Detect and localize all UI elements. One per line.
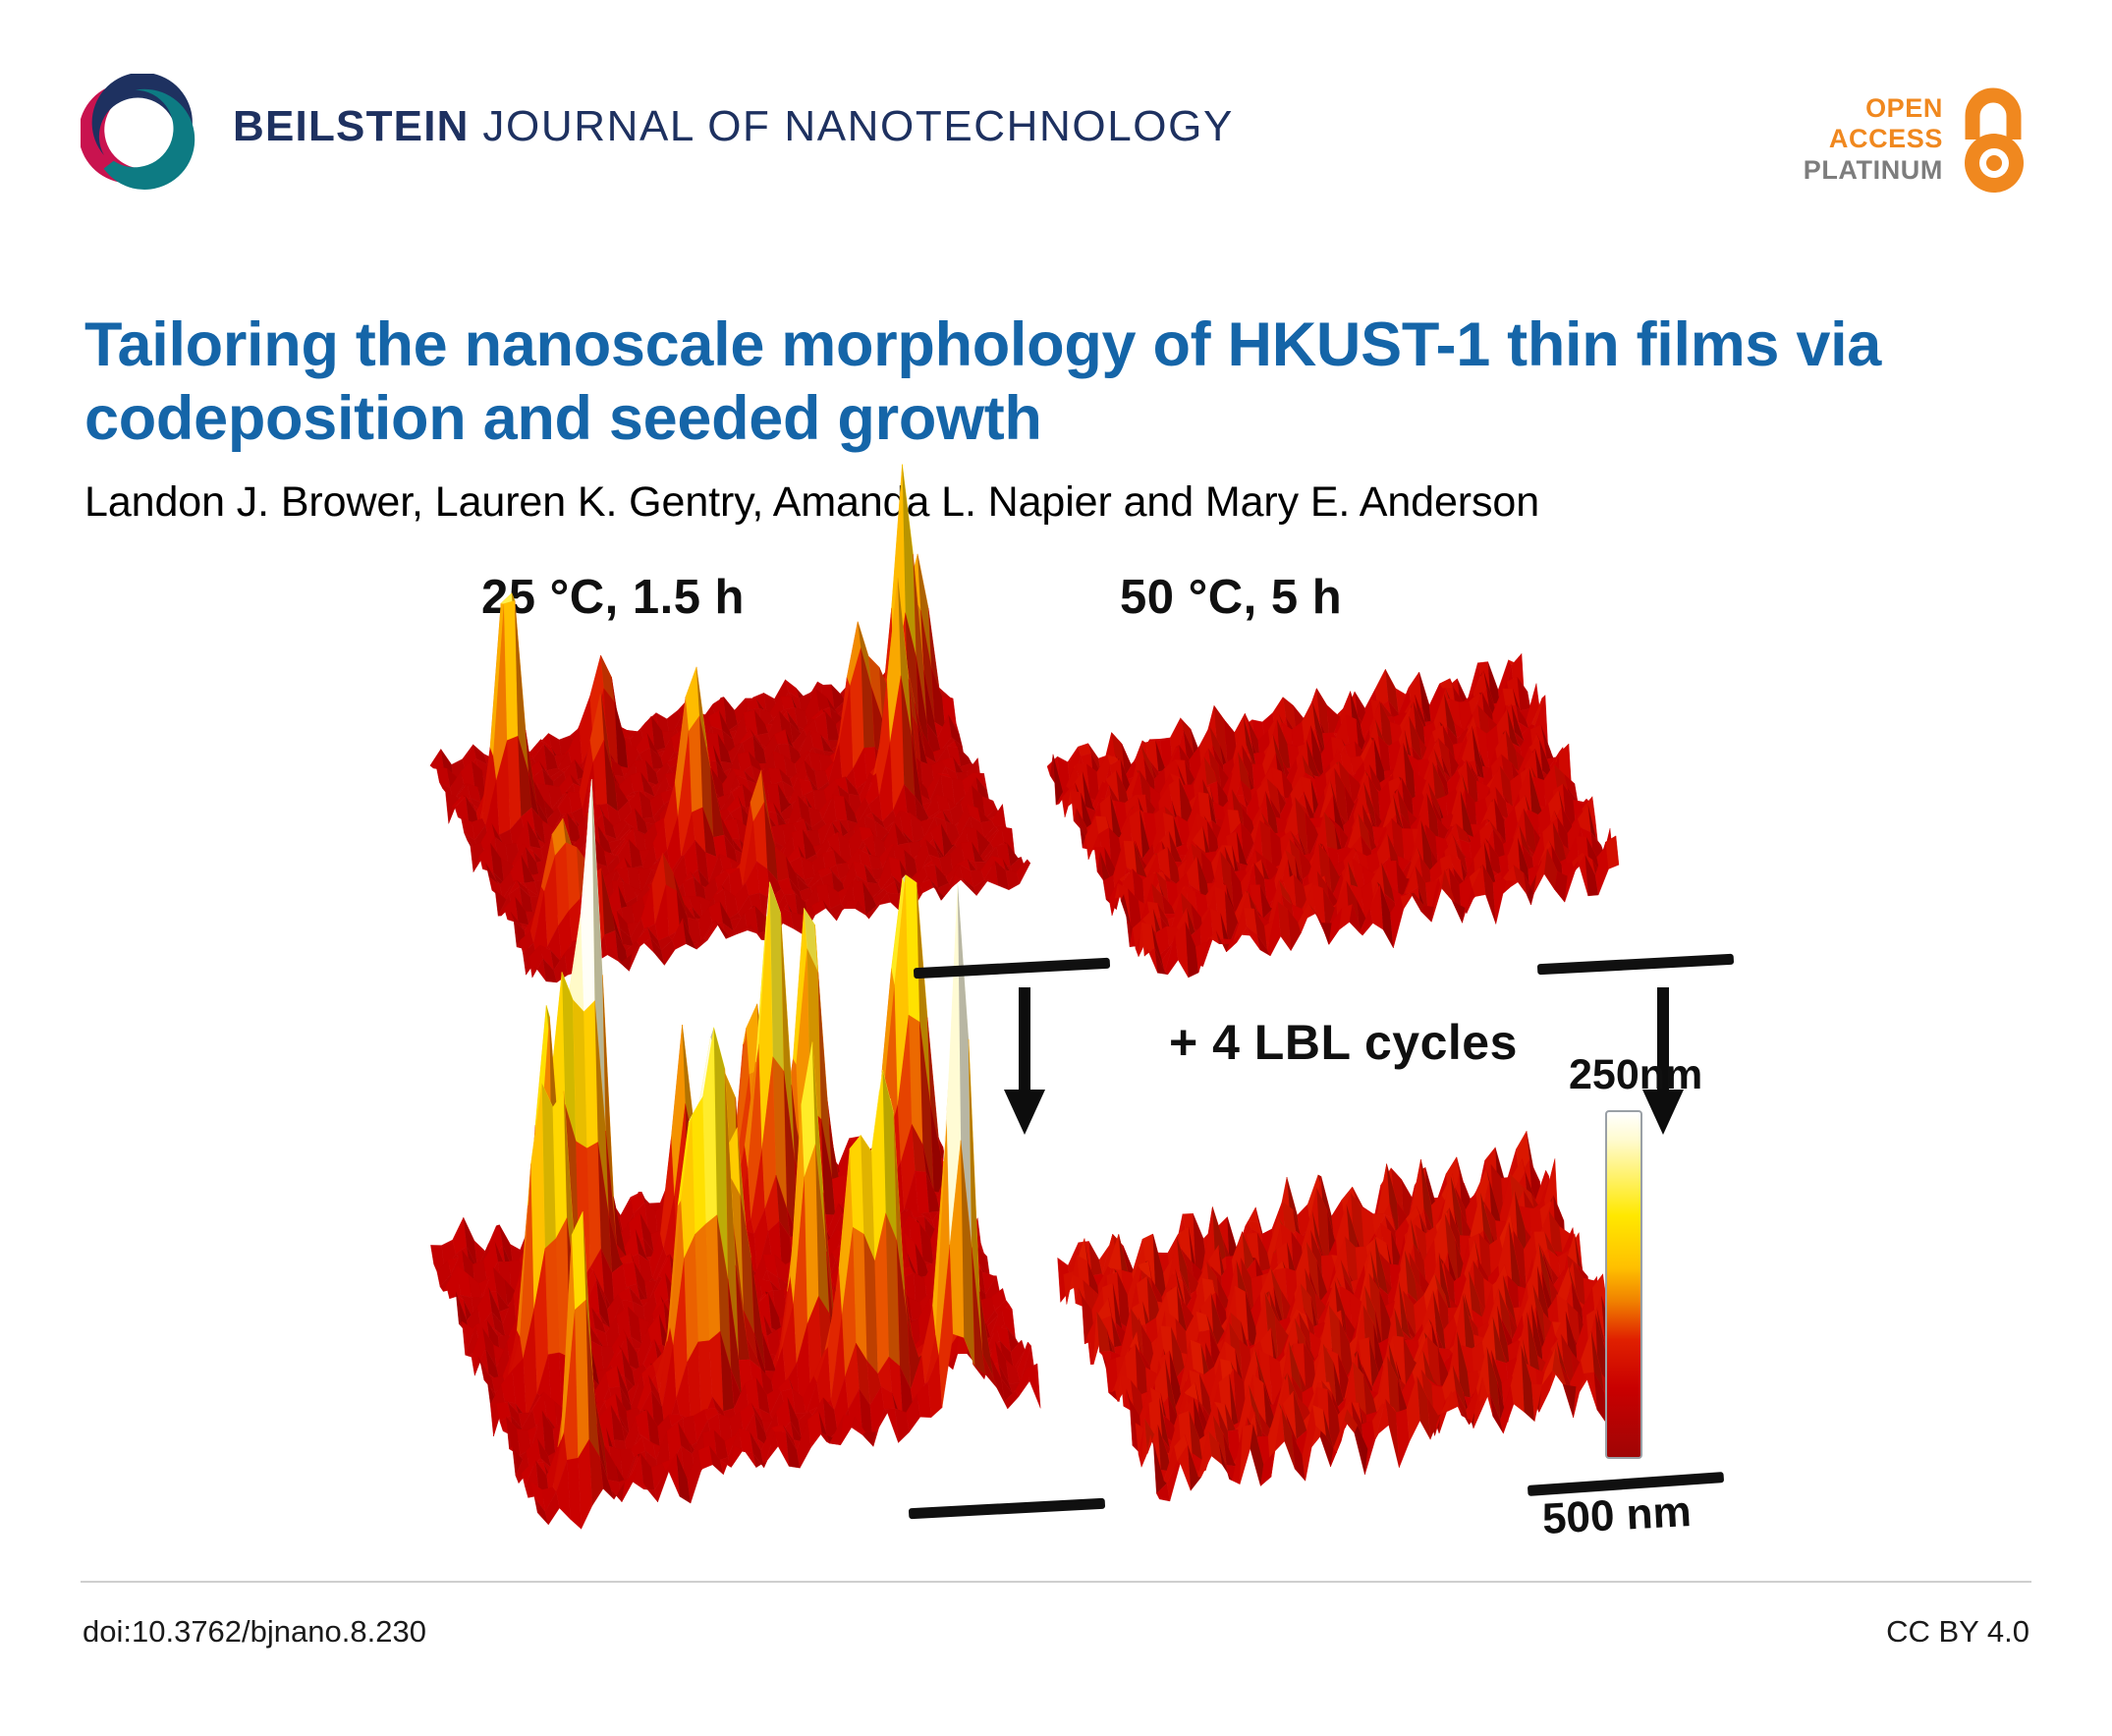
journal-wordmark-light: JOURNAL OF NANOTECHNOLOGY <box>470 102 1234 150</box>
afm-caption-25c: 25 °C, 1.5 h <box>481 570 745 625</box>
down-arrow-icon-left <box>1002 987 1047 1135</box>
open-access-platinum-badge: OPEN ACCESS PLATINUM <box>1804 81 2031 198</box>
journal-wordmark: BEILSTEIN JOURNAL OF NANOTECHNOLOGY <box>233 102 1234 151</box>
beilstein-triple-arc-logo-icon <box>81 74 196 190</box>
article-authors: Landon J. Brower, Lauren K. Gentry, Aman… <box>84 478 2039 527</box>
graphical-abstract-figure: 25 °C, 1.5 h 50 °C, 5 h 500 nm + 4 LBL c… <box>373 570 1768 1542</box>
journal-wordmark-bold: BEILSTEIN <box>233 102 470 150</box>
height-colorbar <box>1605 1110 1642 1459</box>
open-access-badge-text: OPEN ACCESS PLATINUM <box>1804 93 1943 186</box>
afm-surface-plot-50c-before <box>1012 658 1601 973</box>
journal-masthead: BEILSTEIN JOURNAL OF NANOTECHNOLOGY OPEN… <box>0 0 2112 236</box>
afm-caption-50c: 50 °C, 5 h <box>1120 570 1342 625</box>
footer-license: CC BY 4.0 <box>1886 1614 2029 1650</box>
footer-divider <box>81 1581 2031 1583</box>
lbl-cycles-label: + 4 LBL cycles <box>1169 1014 1518 1071</box>
scale-bar-label: 500 nm <box>1541 1487 1693 1544</box>
article-title: Tailoring the nanoscale morphology of HK… <box>84 308 2039 455</box>
height-colorbar-group: 250nm <box>1567 1051 1753 1493</box>
colorbar-max-label: 250nm <box>1569 1051 1702 1099</box>
open-access-line-access: ACCESS <box>1829 124 1943 154</box>
open-lock-icon <box>1957 84 2031 195</box>
afm-surface-plot-50c-after <box>1022 1159 1621 1498</box>
open-access-line-open: OPEN <box>1865 93 1943 124</box>
footer-doi: doi:10.3762/bjnano.8.230 <box>83 1614 426 1650</box>
afm-surface-plot-25c-after <box>393 1091 1022 1513</box>
open-access-line-platinum: PLATINUM <box>1804 155 1943 186</box>
